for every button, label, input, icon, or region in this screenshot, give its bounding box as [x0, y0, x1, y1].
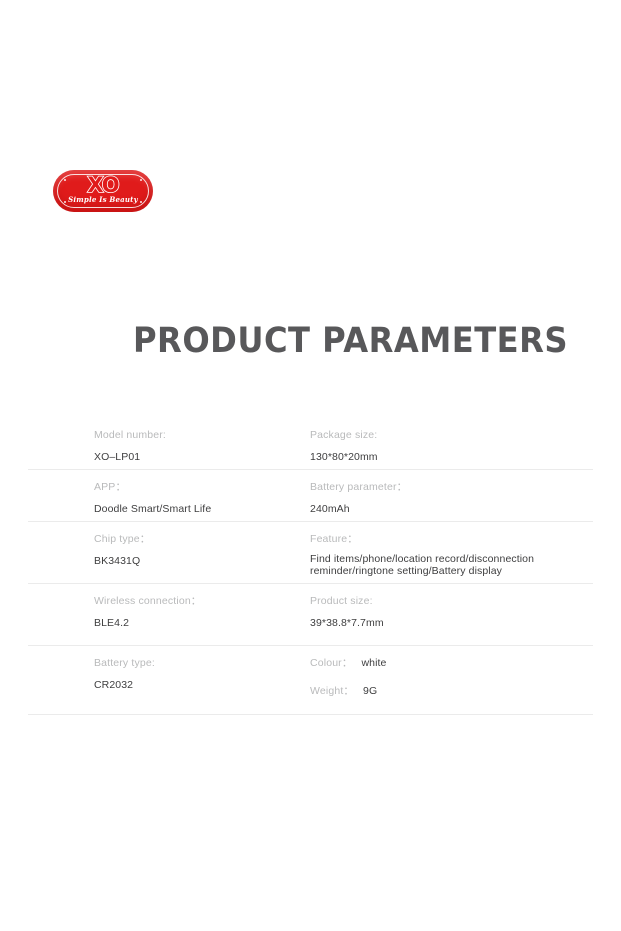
spec-value: Find items/phone/location record/disconn… — [310, 554, 593, 577]
spec-value: 130*80*20mm — [310, 450, 593, 464]
spec-value: 9G — [363, 684, 377, 698]
table-row: APP： Doodle Smart/Smart Life Battery par… — [28, 470, 593, 522]
spec-label: Wireless connection： — [94, 594, 287, 608]
spec-value: BLE4.2 — [94, 616, 287, 630]
table-row: Wireless connection： BLE4.2 Product size… — [28, 584, 593, 646]
spec-value: CR2032 — [94, 678, 287, 692]
spec-cell-feature: Feature： Find items/phone/location recor… — [287, 522, 593, 583]
spec-cell-wireless-connection: Wireless connection： BLE4.2 — [28, 584, 287, 645]
brand-logo: XO Simple Is Beauty — [53, 170, 153, 212]
table-row: Chip type： BK3431Q Feature： Find items/p… — [28, 522, 593, 584]
spec-cell-battery-parameter: Battery parameter： 240mAh — [287, 470, 593, 521]
spec-cell-battery-type: Battery type: CR2032 — [28, 646, 287, 714]
spec-cell-colour-weight: Colour： white Weight： 9G — [287, 646, 593, 714]
spec-cell-package-size: Package size: 130*80*20mm — [287, 418, 593, 469]
spec-label: Battery type: — [94, 656, 287, 670]
product-parameters-table: Model number: XO–LP01 Package size: 130*… — [28, 418, 593, 715]
page-title: PRODUCT PARAMETERS — [133, 319, 568, 363]
spec-label: Colour： — [310, 656, 352, 670]
spec-label: APP： — [94, 480, 287, 494]
spec-value: 39*38.8*7.7mm — [310, 616, 593, 630]
spec-label: Package size: — [310, 428, 593, 442]
spec-label: Feature： — [310, 532, 593, 546]
spec-value: BK3431Q — [94, 554, 287, 568]
spec-cell-model-number: Model number: XO–LP01 — [28, 418, 287, 469]
spec-label: Product size: — [310, 594, 593, 608]
spec-cell-app: APP： Doodle Smart/Smart Life — [28, 470, 287, 521]
spec-value: Doodle Smart/Smart Life — [94, 502, 287, 516]
spec-label: Chip type： — [94, 532, 287, 546]
table-row: Battery type: CR2032 Colour： white Weigh… — [28, 646, 593, 715]
spec-pair-colour: Colour： white — [310, 656, 593, 670]
logo-wordmark: XO — [53, 175, 153, 196]
spec-label: Model number: — [94, 428, 287, 442]
spec-value: XO–LP01 — [94, 450, 287, 464]
spec-value: 240mAh — [310, 502, 593, 516]
logo-tagline: Simple Is Beauty — [53, 196, 153, 204]
spec-label: Battery parameter： — [310, 480, 593, 494]
spec-label: Weight： — [310, 684, 354, 698]
spec-value: white — [361, 656, 386, 670]
spec-cell-chip-type: Chip type： BK3431Q — [28, 522, 287, 583]
spec-cell-product-size: Product size: 39*38.8*7.7mm — [287, 584, 593, 645]
spec-pair-weight: Weight： 9G — [310, 684, 593, 698]
table-row: Model number: XO–LP01 Package size: 130*… — [28, 418, 593, 470]
